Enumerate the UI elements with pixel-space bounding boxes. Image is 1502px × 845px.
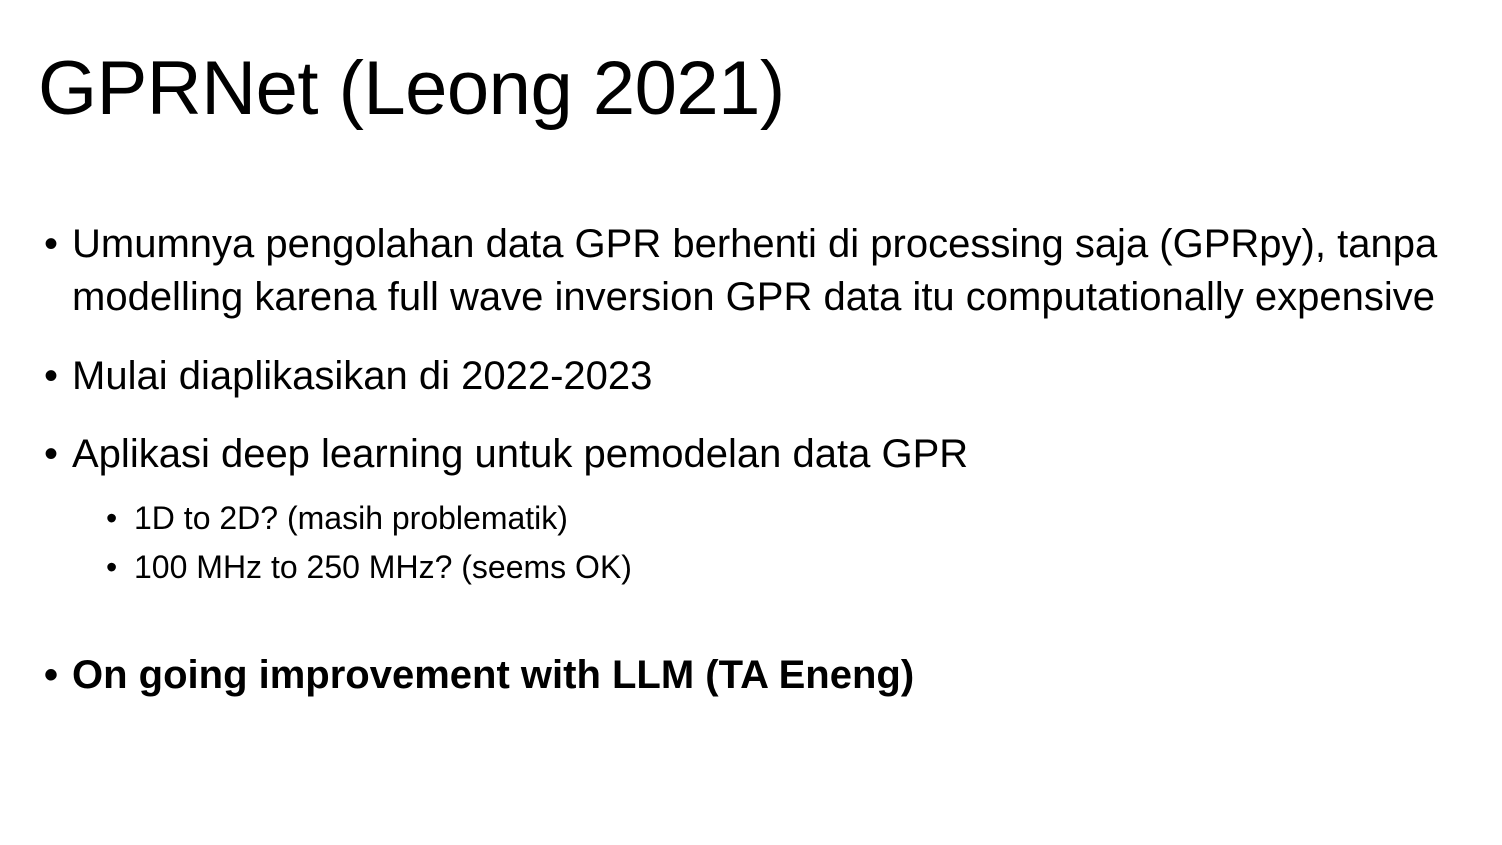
bullet-list: • Umumnya pengolahan data GPR berhenti d… [38,218,1468,718]
bullet-point-icon: • [38,428,72,481]
bullet-point-icon: • [38,218,72,271]
list-item-emphasis: • On going improvement with LLM (TA Enen… [38,649,1468,702]
bullet-point-icon: • [102,546,134,589]
list-item-label: Aplikasi deep learning untuk pemodelan d… [72,428,968,481]
list-item-label: Umumnya pengolahan data GPR berhenti di … [72,218,1444,324]
sub-list-item-label: 1D to 2D? (masih problematik) [134,497,568,540]
sub-list-item-label: 100 MHz to 250 MHz? (seems OK) [134,546,632,589]
list-gap [38,418,1468,428]
list-item: • Umumnya pengolahan data GPR berhenti d… [38,218,1468,324]
list-gap [38,340,1468,350]
bullet-point-icon: • [102,497,134,540]
list-item: • Mulai diaplikasikan di 2022-2023 [38,350,1468,403]
blank-line-spacer [38,595,1468,649]
list-item-label: Mulai diaplikasikan di 2022-2023 [72,350,652,403]
presentation-slide: GPRNet (Leong 2021) • Umumnya pengolahan… [0,0,1502,845]
sub-list-item: • 100 MHz to 250 MHz? (seems OK) [38,546,1468,589]
list-item-emphasis-label: On going improvement with LLM (TA Eneng) [72,649,914,702]
bullet-point-icon: • [38,649,72,702]
list-item: • Aplikasi deep learning untuk pemodelan… [38,428,1468,481]
sub-list-item: • 1D to 2D? (masih problematik) [38,497,1468,540]
page-title: GPRNet (Leong 2021) [38,48,1458,130]
bullet-point-icon: • [38,350,72,403]
